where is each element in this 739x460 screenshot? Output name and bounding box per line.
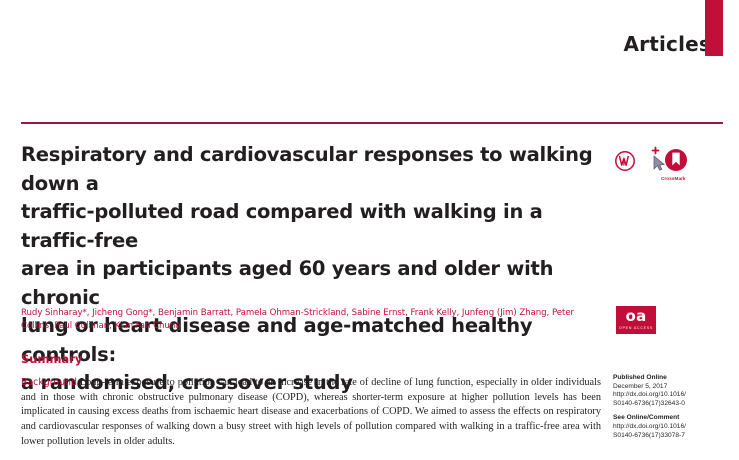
crossmark-caption: CrossMark [661,176,686,181]
summary-section: Summary Background Long-term exposure to… [21,352,601,460]
side-note-title: Published Online [613,374,735,383]
side-note: See Online/Commenthttp://dx.doi.org/10.1… [613,414,735,440]
side-notes-column: Published OnlineDecember 5, 2017http://d… [613,374,735,446]
side-note-doi-line[interactable]: S0140-6736(17)33078-7 [613,432,735,441]
running-head: Articles [0,0,739,80]
side-note-doi-line[interactable]: http://dx.doi.org/10.1016/ [613,423,735,432]
author-list: Rudy Sinharay*, Jicheng Gong*, Benjamin … [21,307,601,333]
open-access-caption: OPEN ACCESS [616,325,656,331]
side-note-title: See Online/Comment [613,414,735,423]
side-note: Published OnlineDecember 5, 2017http://d… [613,374,735,408]
crossmark-icon[interactable] [664,148,688,177]
summary-background-label: Background [21,377,77,388]
article-marks-group: CrossMark [612,146,702,188]
summary-background-text: Long-term exposure to pollution can lead… [21,377,601,446]
side-note-doi-line[interactable]: S0140-6736(17)32643-0 [613,400,735,409]
summary-heading: Summary [21,352,601,366]
open-access-badge[interactable]: oa OPEN ACCESS [616,306,656,334]
summary-paragraph: Background Long-term exposure to polluti… [21,376,601,449]
header-divider-rule [21,122,723,124]
open-access-label: oa [616,306,656,325]
w-circle-icon[interactable] [614,150,636,177]
running-head-red-bar [705,0,723,56]
side-note-doi-line[interactable]: http://dx.doi.org/10.1016/ [613,391,735,400]
running-head-label: Articles [623,32,711,56]
side-note-line: December 5, 2017 [613,383,735,392]
